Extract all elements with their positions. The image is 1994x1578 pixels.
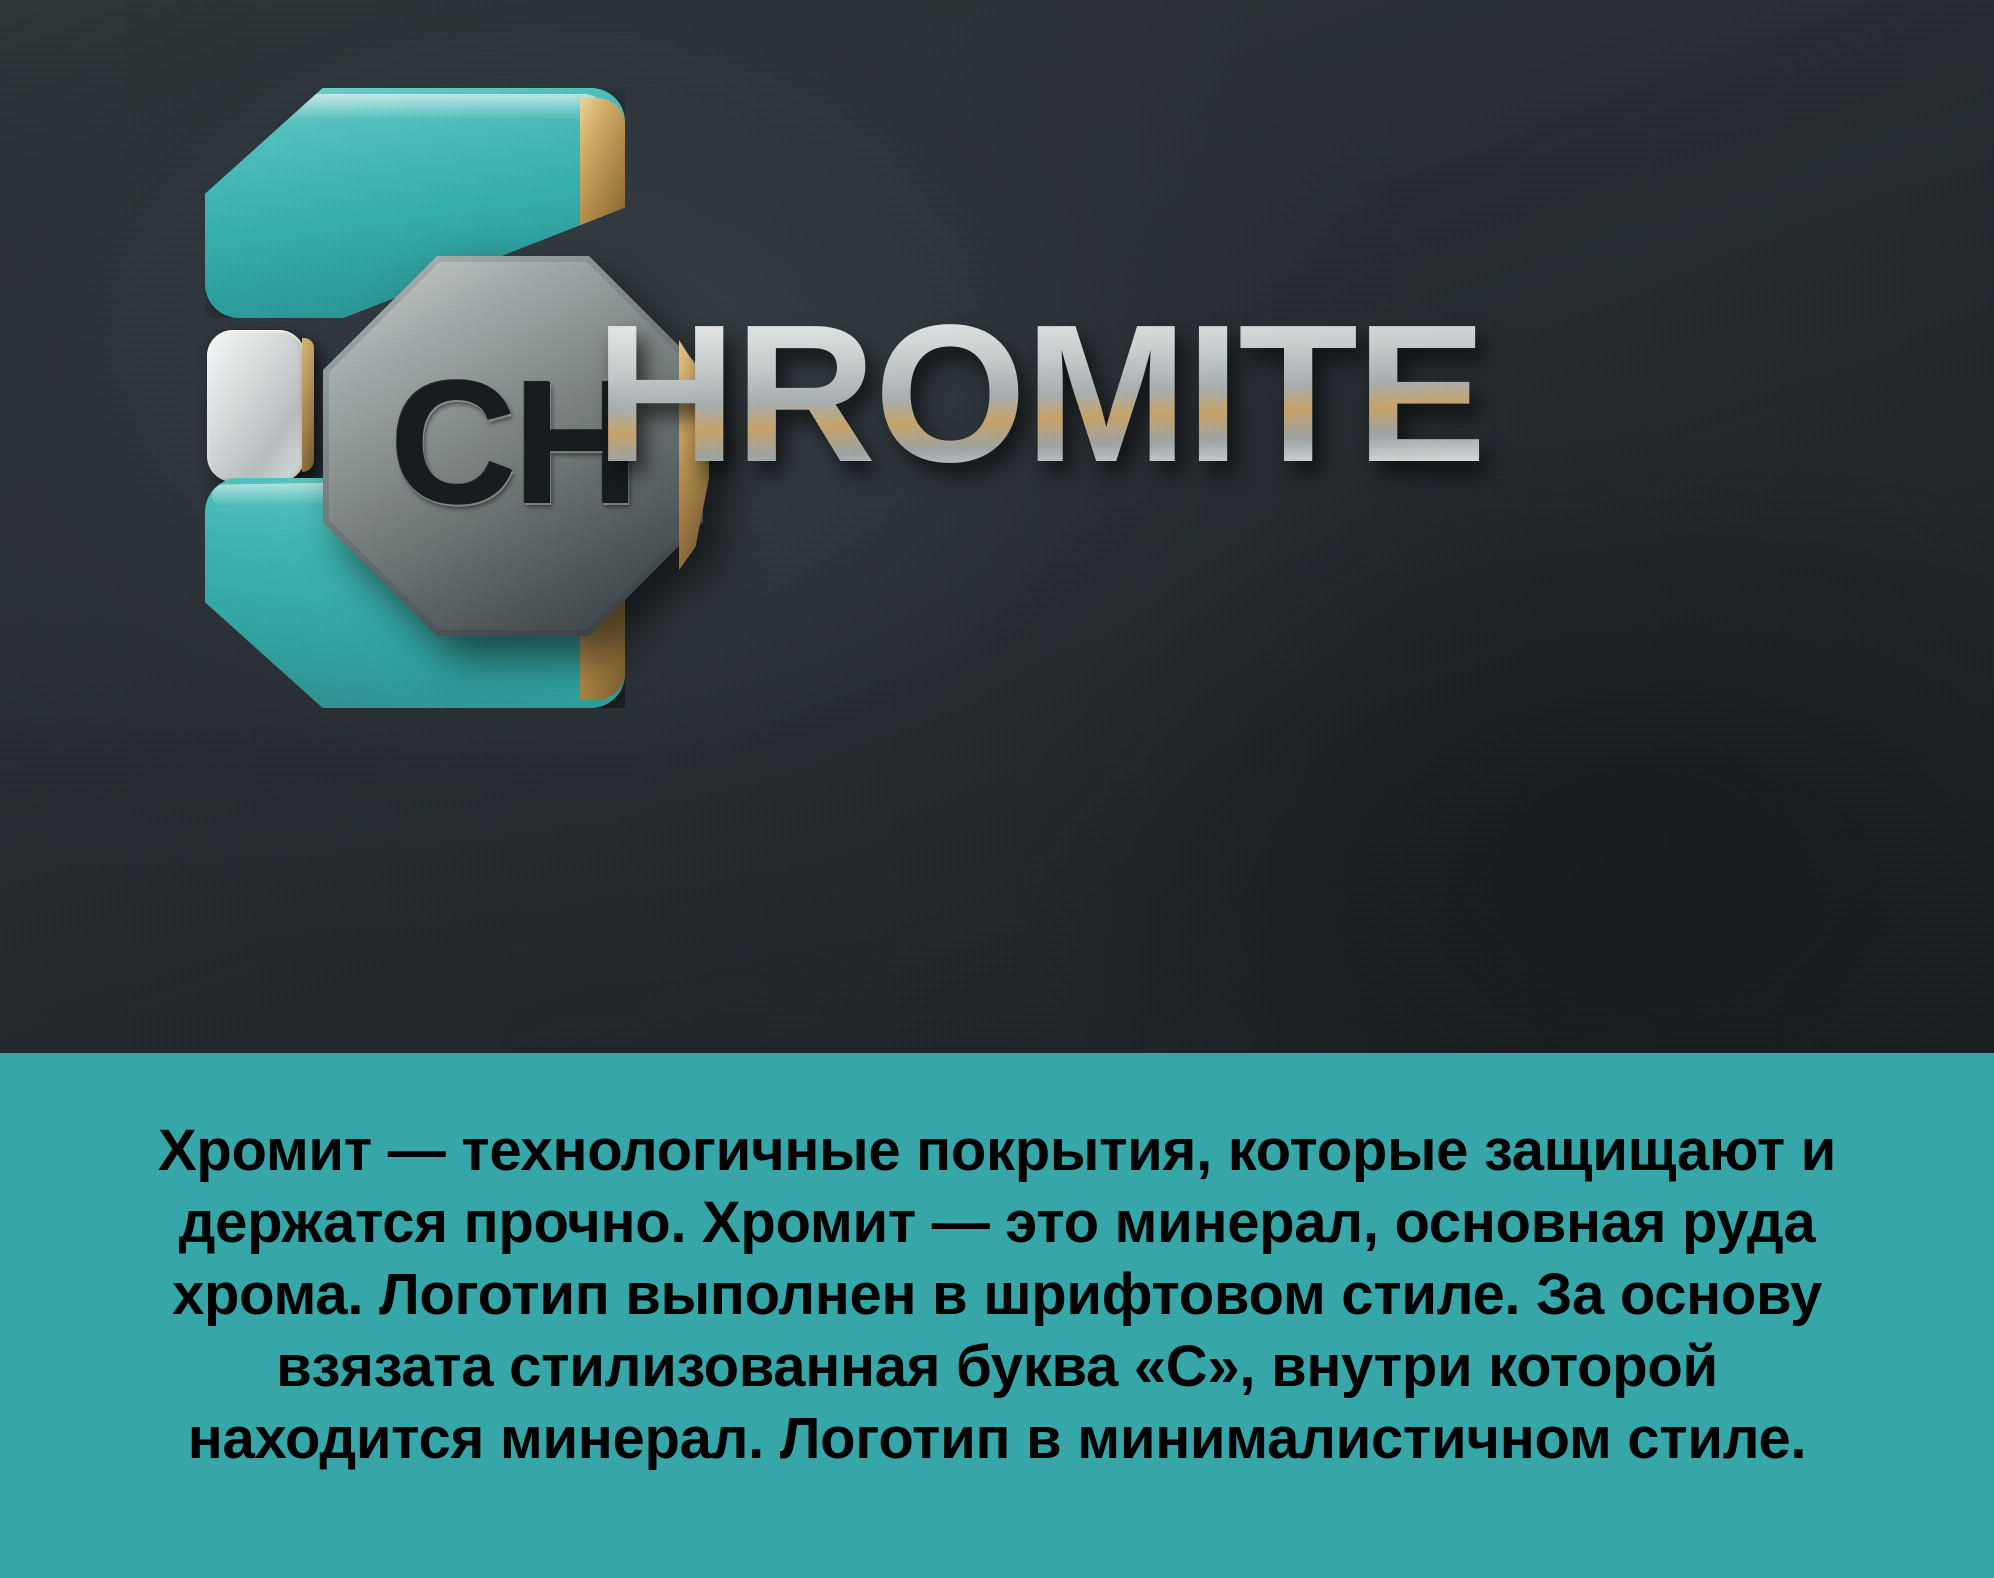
arm-highlight (212, 94, 609, 120)
caption-line: хрома. Логотип выполнен в шрифтовом стил… (60, 1259, 1934, 1331)
gold-tip-upper-icon (580, 98, 626, 248)
nub-gold-edge (302, 338, 314, 472)
logo-hero-image: CH HROMITE (0, 0, 1994, 1053)
chromite-logo: CH HROMITE (195, 88, 1455, 708)
page-root: CH HROMITE Хромит — технологичные покрыт… (0, 0, 1994, 1578)
hromite-wordmark: HROMITE (595, 296, 1485, 492)
caption-band: Хромит — технологичные покрытия, которые… (0, 1053, 1994, 1578)
caption-line: Хромит — технологичные покрытия, которые… (60, 1115, 1934, 1187)
caption-line: взязата стилизованная буква «С», внутри … (60, 1331, 1934, 1403)
caption-text: Хромит — технологичные покрытия, которые… (0, 1115, 1994, 1475)
caption-line: держатся прочно. Хромит — это минерал, о… (60, 1187, 1934, 1259)
caption-line: находится минерал. Логотип в минималисти… (60, 1403, 1934, 1475)
silver-nub-icon (207, 330, 305, 482)
